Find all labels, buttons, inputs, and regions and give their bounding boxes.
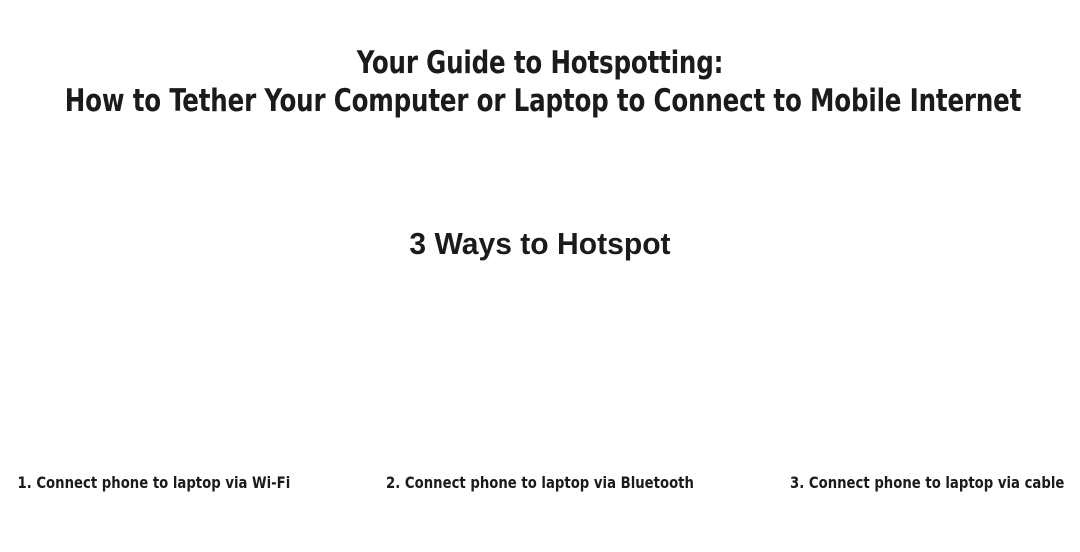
step-column-3: 3. Connect phone to laptop via cable	[720, 286, 1080, 526]
step-caption-1: 1. Connect phone to laptop via Wi-Fi	[0, 472, 331, 526]
step-column-2: 2. Connect phone to laptop via Bluetooth	[360, 286, 720, 526]
step-image-2	[360, 286, 720, 472]
step-caption-2: 2. Connect phone to laptop via Bluetooth	[374, 472, 705, 526]
page-title: Your Guide to Hotspotting: How to Tether…	[0, 44, 1080, 120]
title-line-primary: Your Guide to Hotspotting:	[65, 44, 1015, 82]
step-column-1: 1. Connect phone to laptop via Wi-Fi	[0, 286, 360, 526]
title-line-secondary: How to Tether Your Computer or Laptop to…	[65, 82, 1015, 120]
infographic-page: Your Guide to Hotspotting: How to Tether…	[0, 0, 1080, 552]
step-image-3	[720, 286, 1080, 472]
step-image-1	[0, 286, 360, 472]
steps-row: 1. Connect phone to laptop via Wi-Fi 2. …	[0, 286, 1080, 526]
step-caption-3: 3. Connect phone to laptop via cable	[749, 472, 1080, 526]
section-heading: 3 Ways to Hotspot	[16, 224, 1064, 264]
